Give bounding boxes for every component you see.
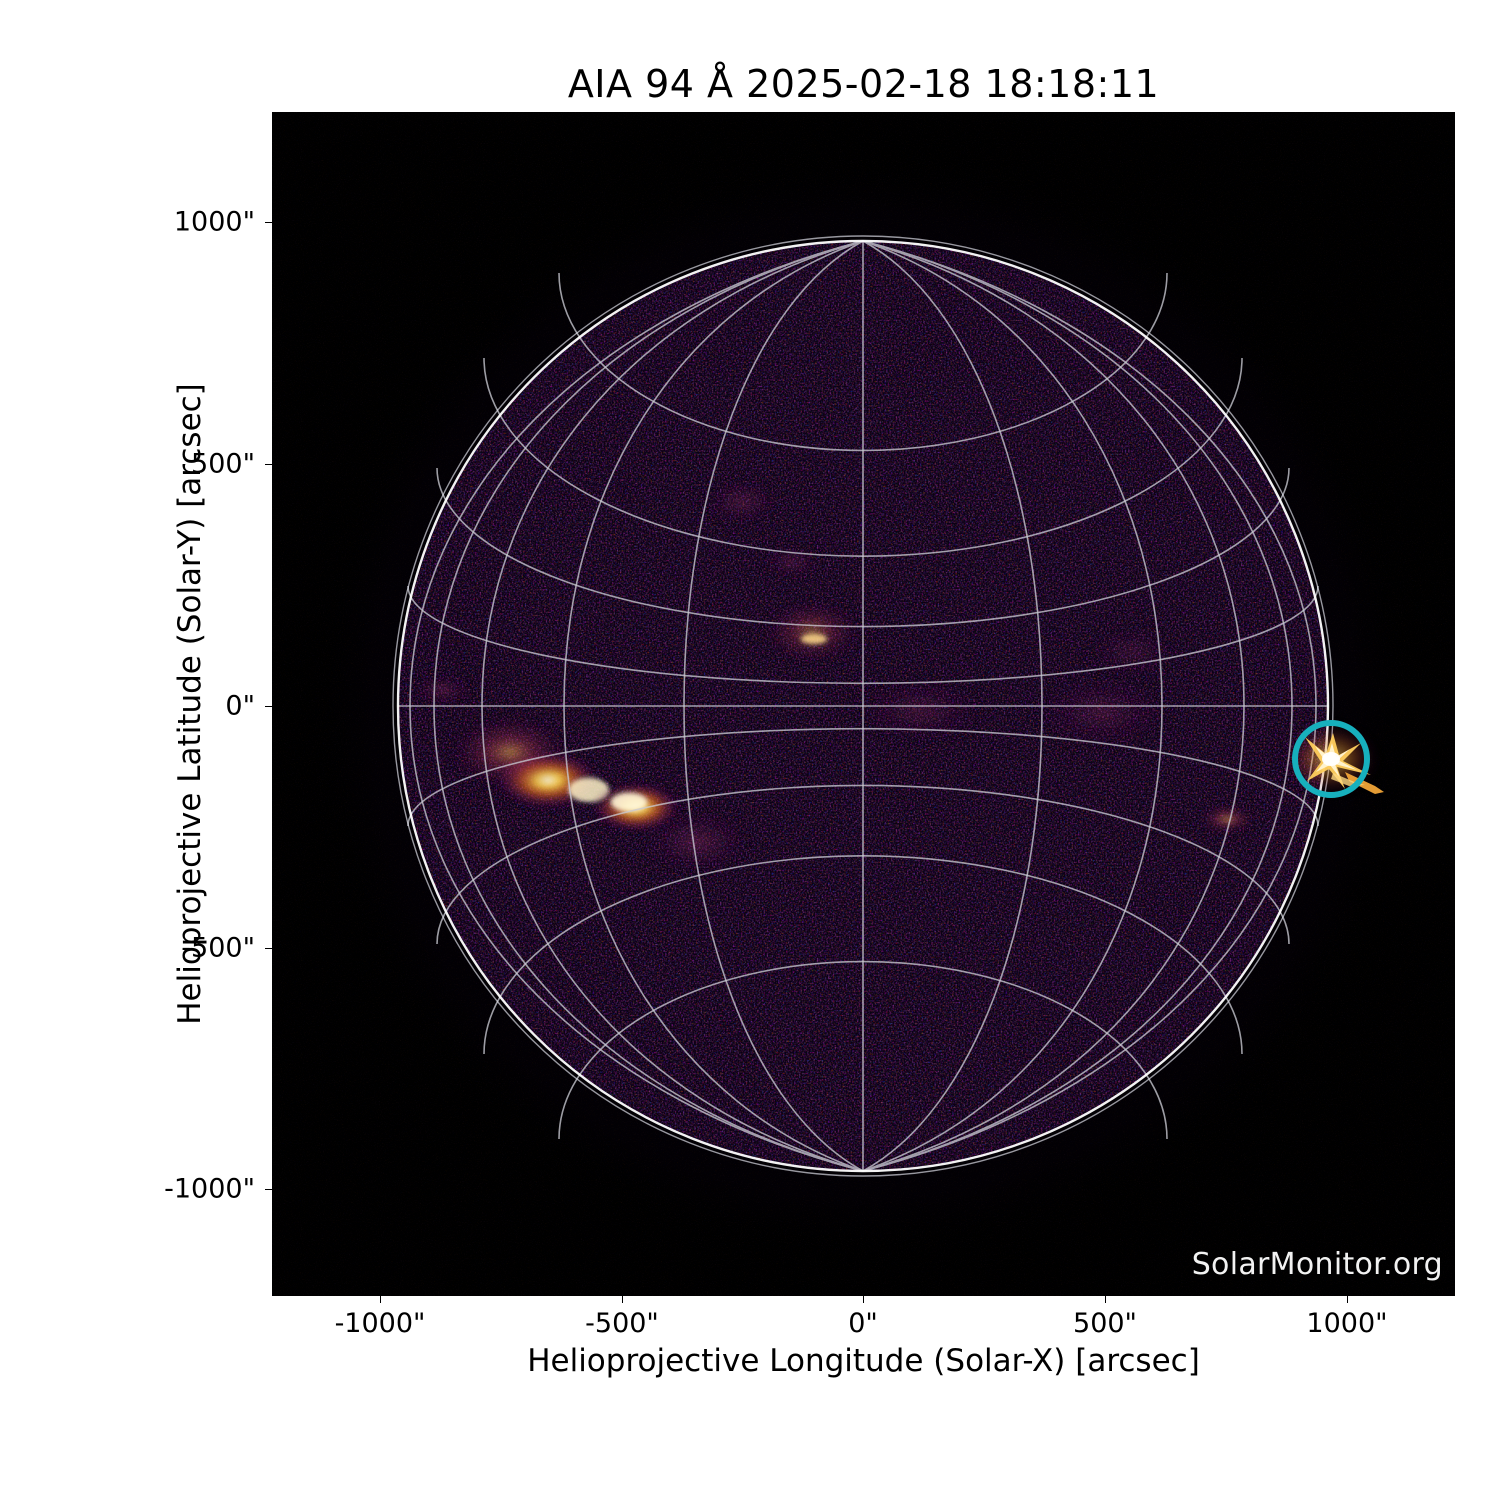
x-tick-label: 500" — [1073, 1308, 1137, 1339]
x-tick-label: -1000" — [335, 1308, 426, 1339]
x-tick-label: 0" — [848, 1308, 878, 1339]
x-tick-mark — [863, 1296, 864, 1303]
y-tick-mark — [265, 464, 272, 465]
y-tick-label: 0" — [60, 691, 255, 722]
x-axis-label: Helioprojective Longitude (Solar-X) [arc… — [272, 1343, 1455, 1379]
x-tick-label: 1000" — [1306, 1308, 1387, 1339]
solar-image-figure: AIA 94 Å 2025-02-18 18:18:11 — [0, 0, 1500, 1500]
x-tick-label: -500" — [585, 1308, 659, 1339]
y-tick-label: 500" — [60, 449, 255, 480]
y-tick-label: 1000" — [60, 207, 255, 238]
y-tick-mark — [265, 948, 272, 949]
solar-disk-image — [272, 112, 1455, 1296]
x-tick-mark — [380, 1296, 381, 1303]
x-tick-mark — [1347, 1296, 1348, 1303]
plot-area[interactable]: SolarMonitor.org — [272, 112, 1455, 1296]
watermark: SolarMonitor.org — [1192, 1247, 1443, 1282]
y-tick-mark — [265, 706, 272, 707]
y-tick-label: -500" — [60, 933, 255, 964]
figure-title: AIA 94 Å 2025-02-18 18:18:11 — [272, 62, 1455, 106]
x-tick-mark — [1105, 1296, 1106, 1303]
y-tick-mark — [265, 222, 272, 223]
y-tick-mark — [265, 1189, 272, 1190]
x-tick-mark — [622, 1296, 623, 1303]
y-tick-label: -1000" — [60, 1174, 255, 1205]
y-axis-label: Helioprojective Latitude (Solar-Y) [arcs… — [172, 112, 208, 1296]
